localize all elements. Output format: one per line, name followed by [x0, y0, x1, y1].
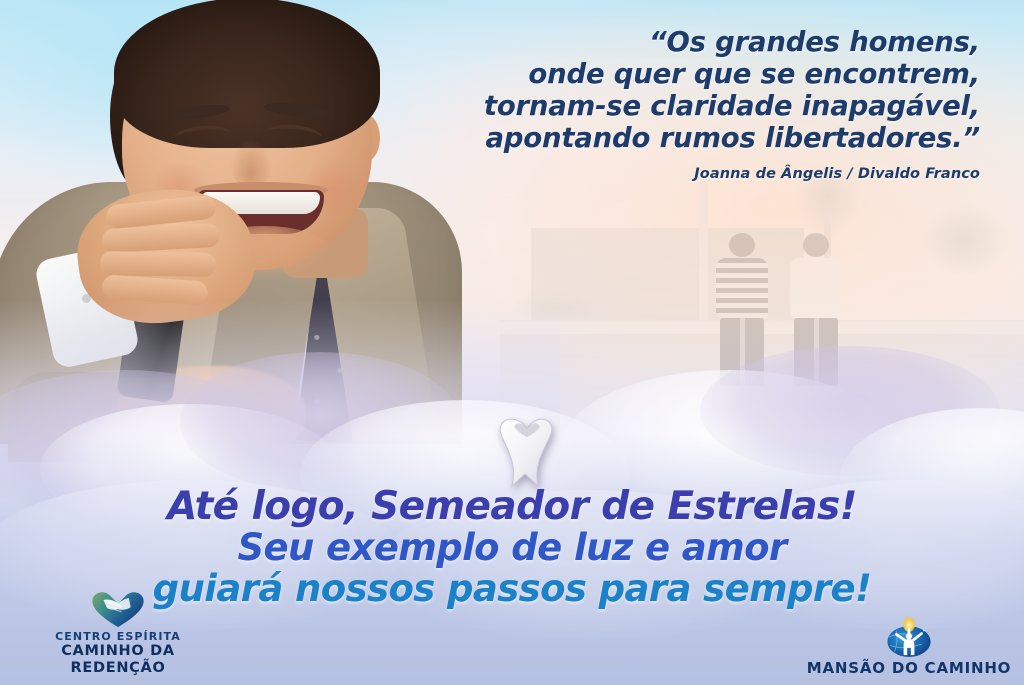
logo-left-line-2: CAMINHO DA REDENÇÃO	[18, 643, 218, 677]
headline-line-1: Até logo, Semeador de Estrelas!	[0, 486, 1024, 528]
quote-line-3: tornam-se claridade inapagável,	[420, 90, 980, 122]
portrait-nose	[230, 140, 272, 186]
portrait-hair	[114, 0, 380, 148]
scene-lamp-post	[699, 174, 708, 324]
heart-hands-icon	[18, 588, 218, 630]
quote-line-4: apontando rumos libertadores.”	[420, 122, 980, 154]
headline-line-2: Seu exemplo de luz e amor	[0, 528, 1024, 568]
white-mourning-ribbon-icon	[492, 410, 562, 488]
portrait-finger	[100, 251, 216, 277]
logo-left-line-1: CENTRO ESPÍRITA	[18, 630, 218, 643]
memorial-poster: “Os grandes homens, onde quer que se enc…	[0, 0, 1024, 685]
quote-line-1: “Os grandes homens,	[420, 26, 980, 58]
logo-mansao-do-caminho: MANSÃO DO CAMINHO	[804, 617, 1014, 677]
quote-line-2: onde quer que se encontrem,	[420, 58, 980, 90]
globe-torch-figure-icon	[804, 617, 1014, 659]
quote-attribution: Joanna de Ângelis / Divaldo Franco	[420, 166, 980, 182]
scene-palm	[909, 204, 1019, 324]
logo-right-line-1: MANSÃO DO CAMINHO	[804, 659, 1014, 677]
logo-centro-espirita: CENTRO ESPÍRITA CAMINHO DA REDENÇÃO	[18, 588, 218, 677]
quote-block: “Os grandes homens, onde quer que se enc…	[420, 26, 980, 182]
